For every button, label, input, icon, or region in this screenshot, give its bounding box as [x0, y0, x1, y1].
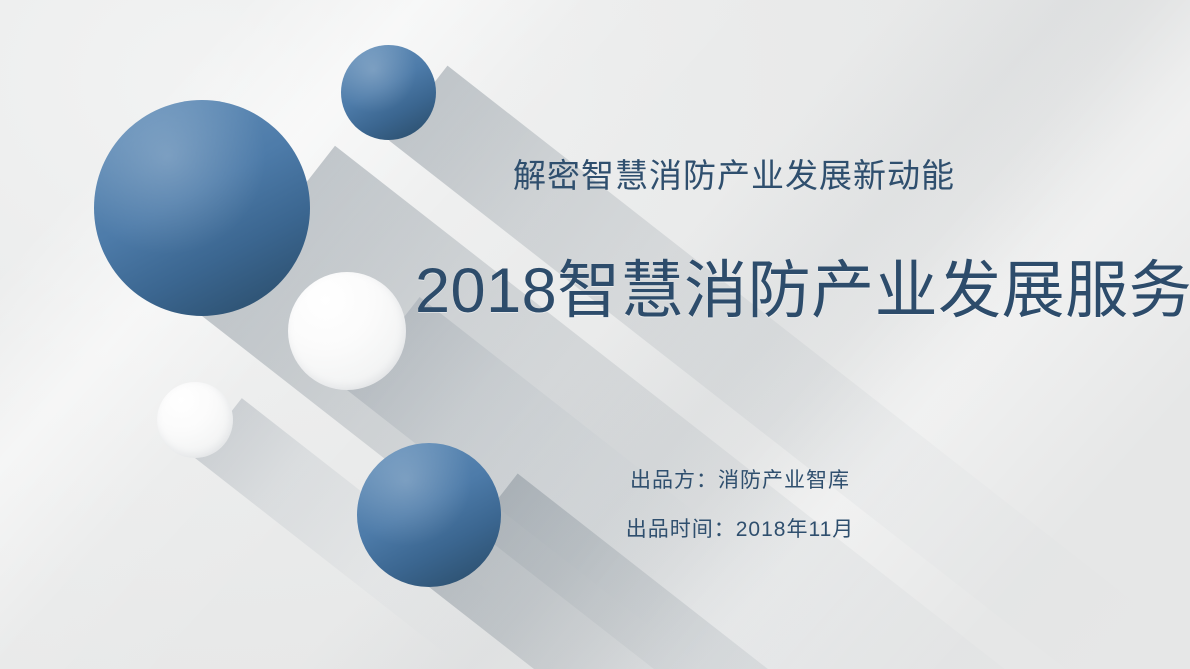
decorative-circle-bottom-blue — [357, 443, 501, 587]
slide-subtitle: 解密智慧消防产业发展新动能 — [415, 155, 1135, 196]
publisher-block: 出品方：消防产业智库 出品时间：2018年11月 — [580, 468, 900, 542]
circle-disc — [288, 272, 406, 390]
title-slide: 解密智慧消防产业发展新动能 2018智慧消防产业发展服务报告 出品方：消防产业智… — [0, 0, 1190, 669]
circle-disc — [157, 382, 233, 458]
decorative-circle-large-blue — [94, 100, 310, 316]
slide-main-title: 2018智慧消防产业发展服务报告 — [415, 254, 1135, 328]
circle-disc — [357, 443, 501, 587]
circle-disc — [94, 100, 310, 316]
publisher-name: 出品方：消防产业智库 — [580, 468, 900, 493]
decorative-circle-white-mid — [288, 272, 406, 390]
publish-date: 出品时间：2018年11月 — [580, 517, 900, 542]
title-text-block: 解密智慧消防产业发展新动能 2018智慧消防产业发展服务报告 — [415, 155, 1135, 329]
decorative-circle-white-small — [157, 382, 233, 458]
decorative-circle-small-blue-top — [341, 45, 436, 140]
circle-disc — [341, 45, 436, 140]
